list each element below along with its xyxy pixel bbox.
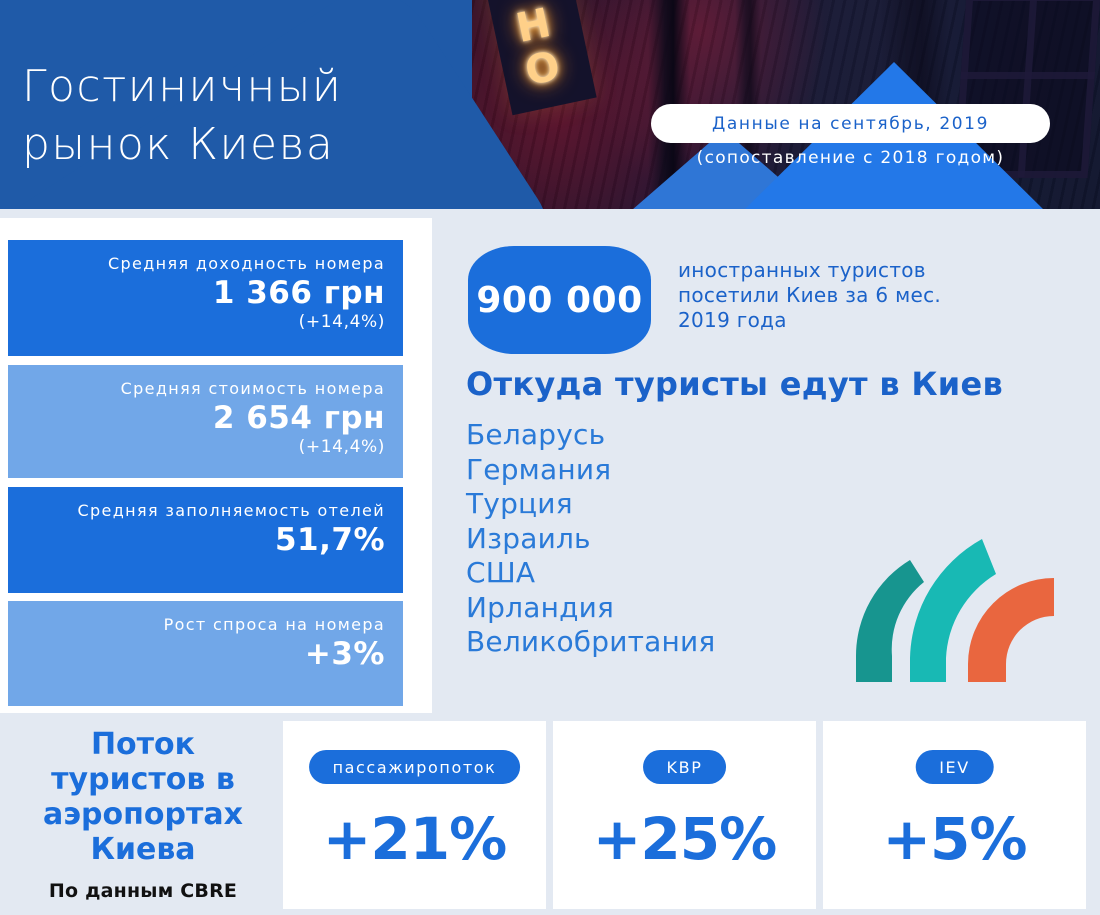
- airport-card-iev: IEV +5%: [823, 721, 1086, 909]
- metric-value: 1 366 грн: [24, 276, 385, 311]
- list-item: Беларусь: [466, 418, 715, 453]
- airport-source-note: По данным CBRE: [18, 880, 268, 902]
- list-item: Турция: [466, 487, 715, 522]
- airport-card-value: +21%: [283, 805, 546, 873]
- logo-arc-orange: [968, 578, 1054, 682]
- metric-card-occupancy: Средняя заполняемость отелей 51,7%: [8, 487, 403, 593]
- metric-value: 51,7%: [24, 523, 385, 558]
- metric-delta: (+14,4%): [24, 312, 385, 332]
- countries-heading: Откуда туристы едут в Киев: [466, 365, 1003, 403]
- metric-value: +3%: [24, 637, 385, 672]
- airport-card-value: +5%: [823, 805, 1086, 873]
- airport-section-title: Поток туристов в аэропортах Киева: [18, 727, 268, 867]
- airport-card-kbp: KBP +25%: [553, 721, 816, 909]
- date-badge-label: Данные на сентябрь, 2019: [712, 114, 989, 134]
- tourist-count-description: иностранных туристов посетили Киев за 6 …: [678, 258, 1078, 334]
- page-title: Гостиничный рынок Киева: [22, 58, 452, 174]
- header-banner: H O Гостиничный рынок Киева Данные на се…: [0, 0, 1100, 209]
- metric-label: Средняя стоимость номера: [24, 379, 385, 399]
- airport-card-badge: пассажиропоток: [309, 750, 521, 784]
- airport-card-badge: KBP: [643, 750, 727, 784]
- countries-list: Беларусь Германия Турция Израиль США Ирл…: [466, 418, 715, 660]
- airport-card-value: +25%: [553, 805, 816, 873]
- metrics-panel: Средняя доходность номера 1 366 грн (+14…: [0, 218, 432, 713]
- metric-card-room-revenue: Средняя доходность номера 1 366 грн (+14…: [8, 240, 403, 356]
- metric-label: Рост спроса на номера: [24, 615, 385, 635]
- brand-arcs-logo-icon: [848, 536, 1076, 682]
- list-item: Германия: [466, 453, 715, 488]
- metric-card-room-price: Средняя стоимость номера 2 654 грн (+14,…: [8, 365, 403, 478]
- metric-card-demand-growth: Рост спроса на номера +3%: [8, 601, 403, 706]
- infographic-page: H O Гостиничный рынок Киева Данные на се…: [0, 0, 1100, 915]
- tourist-count-value: 900 000: [476, 280, 642, 321]
- metric-value: 2 654 грн: [24, 401, 385, 436]
- neon-letter-o: O: [515, 42, 570, 97]
- metric-delta: (+14,4%): [24, 437, 385, 457]
- date-subtitle: (сопоставление с 2018 годом): [651, 148, 1050, 168]
- metric-label: Средняя доходность номера: [24, 254, 385, 274]
- metric-label: Средняя заполняемость отелей: [24, 501, 385, 521]
- tourist-count-badge: 900 000: [468, 246, 651, 354]
- list-item: США: [466, 556, 715, 591]
- date-badge: Данные на сентябрь, 2019: [651, 104, 1050, 143]
- list-item: Великобритания: [466, 625, 715, 660]
- list-item: Израиль: [466, 522, 715, 557]
- airport-card-badge: IEV: [915, 750, 994, 784]
- list-item: Ирландия: [466, 591, 715, 626]
- airport-card-passenger-flow: пассажиропоток +21%: [283, 721, 546, 909]
